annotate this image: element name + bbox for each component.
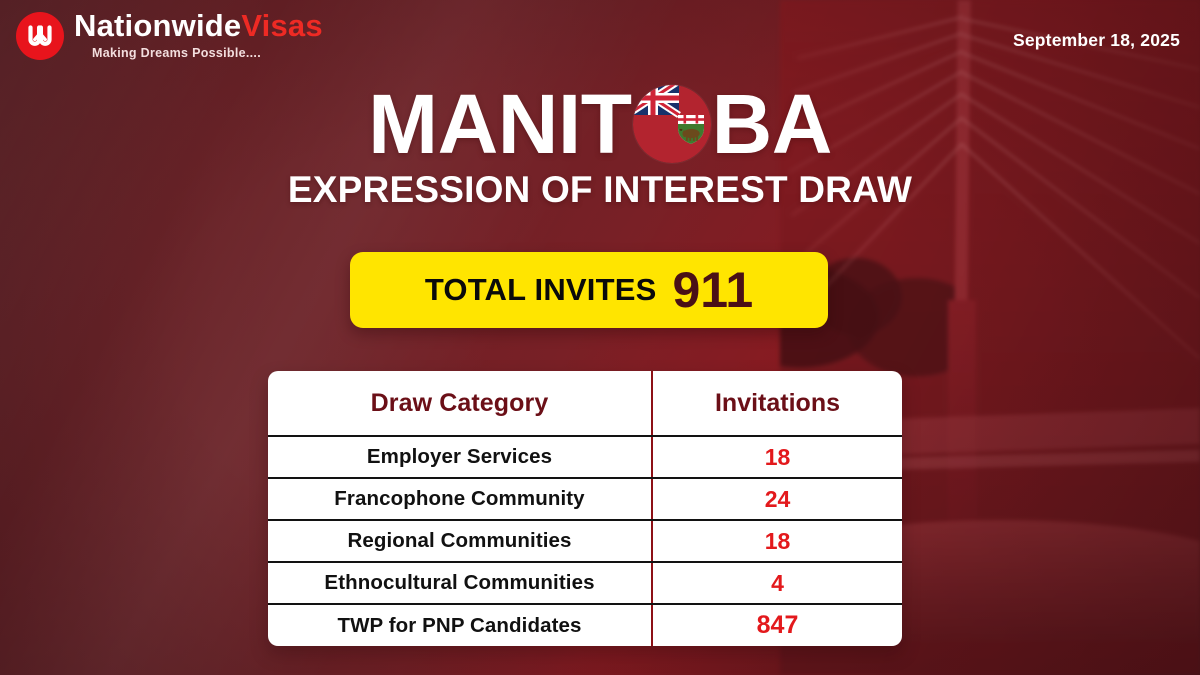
- manitoba-flag-icon: [633, 85, 711, 163]
- draw-date: September 18, 2025: [1013, 30, 1180, 51]
- table-header-row: Draw Category Invitations: [268, 371, 902, 436]
- draw-results-table: Draw Category Invitations Employer Servi…: [268, 371, 902, 646]
- title-part-2: BA: [712, 84, 832, 165]
- hero-title-block: MANIT: [0, 84, 1200, 211]
- column-header-draw-category: Draw Category: [268, 371, 652, 436]
- row-invitations: 18: [652, 520, 902, 562]
- row-category: TWP for PNP Candidates: [268, 604, 652, 646]
- row-category: Employer Services: [268, 436, 652, 478]
- nationwide-visas-monogram-icon: [16, 12, 64, 60]
- page-subtitle: EXPRESSION OF INTEREST DRAW: [0, 169, 1200, 211]
- total-invites-value: 911: [673, 265, 754, 315]
- page-title: MANIT: [368, 84, 832, 165]
- table-row: Francophone Community24: [268, 478, 902, 520]
- row-category: Francophone Community: [268, 478, 652, 520]
- row-invitations: 847: [652, 604, 902, 646]
- row-invitations: 4: [652, 562, 902, 604]
- table-row: Regional Communities18: [268, 520, 902, 562]
- total-invites-label: TOTAL INVITES: [425, 272, 657, 308]
- brand-tagline: Making Dreams Possible....: [74, 46, 323, 60]
- brand-name-primary: Nationwide: [74, 8, 241, 43]
- row-category: Ethnocultural Communities: [268, 562, 652, 604]
- row-invitations: 24: [652, 478, 902, 520]
- brand-logo[interactable]: NationwideVisas Making Dreams Possible..…: [16, 10, 323, 60]
- infographic-canvas: NationwideVisas Making Dreams Possible..…: [0, 0, 1200, 675]
- table-row: TWP for PNP Candidates847: [268, 604, 902, 646]
- total-invites-banner: TOTAL INVITES 911: [350, 252, 828, 328]
- table-row: Employer Services18: [268, 436, 902, 478]
- row-category: Regional Communities: [268, 520, 652, 562]
- title-part-1: MANIT: [368, 84, 631, 165]
- brand-name: NationwideVisas: [74, 10, 323, 43]
- row-invitations: 18: [652, 436, 902, 478]
- brand-name-accent: Visas: [241, 8, 322, 43]
- column-header-invitations: Invitations: [652, 371, 902, 436]
- table-row: Ethnocultural Communities4: [268, 562, 902, 604]
